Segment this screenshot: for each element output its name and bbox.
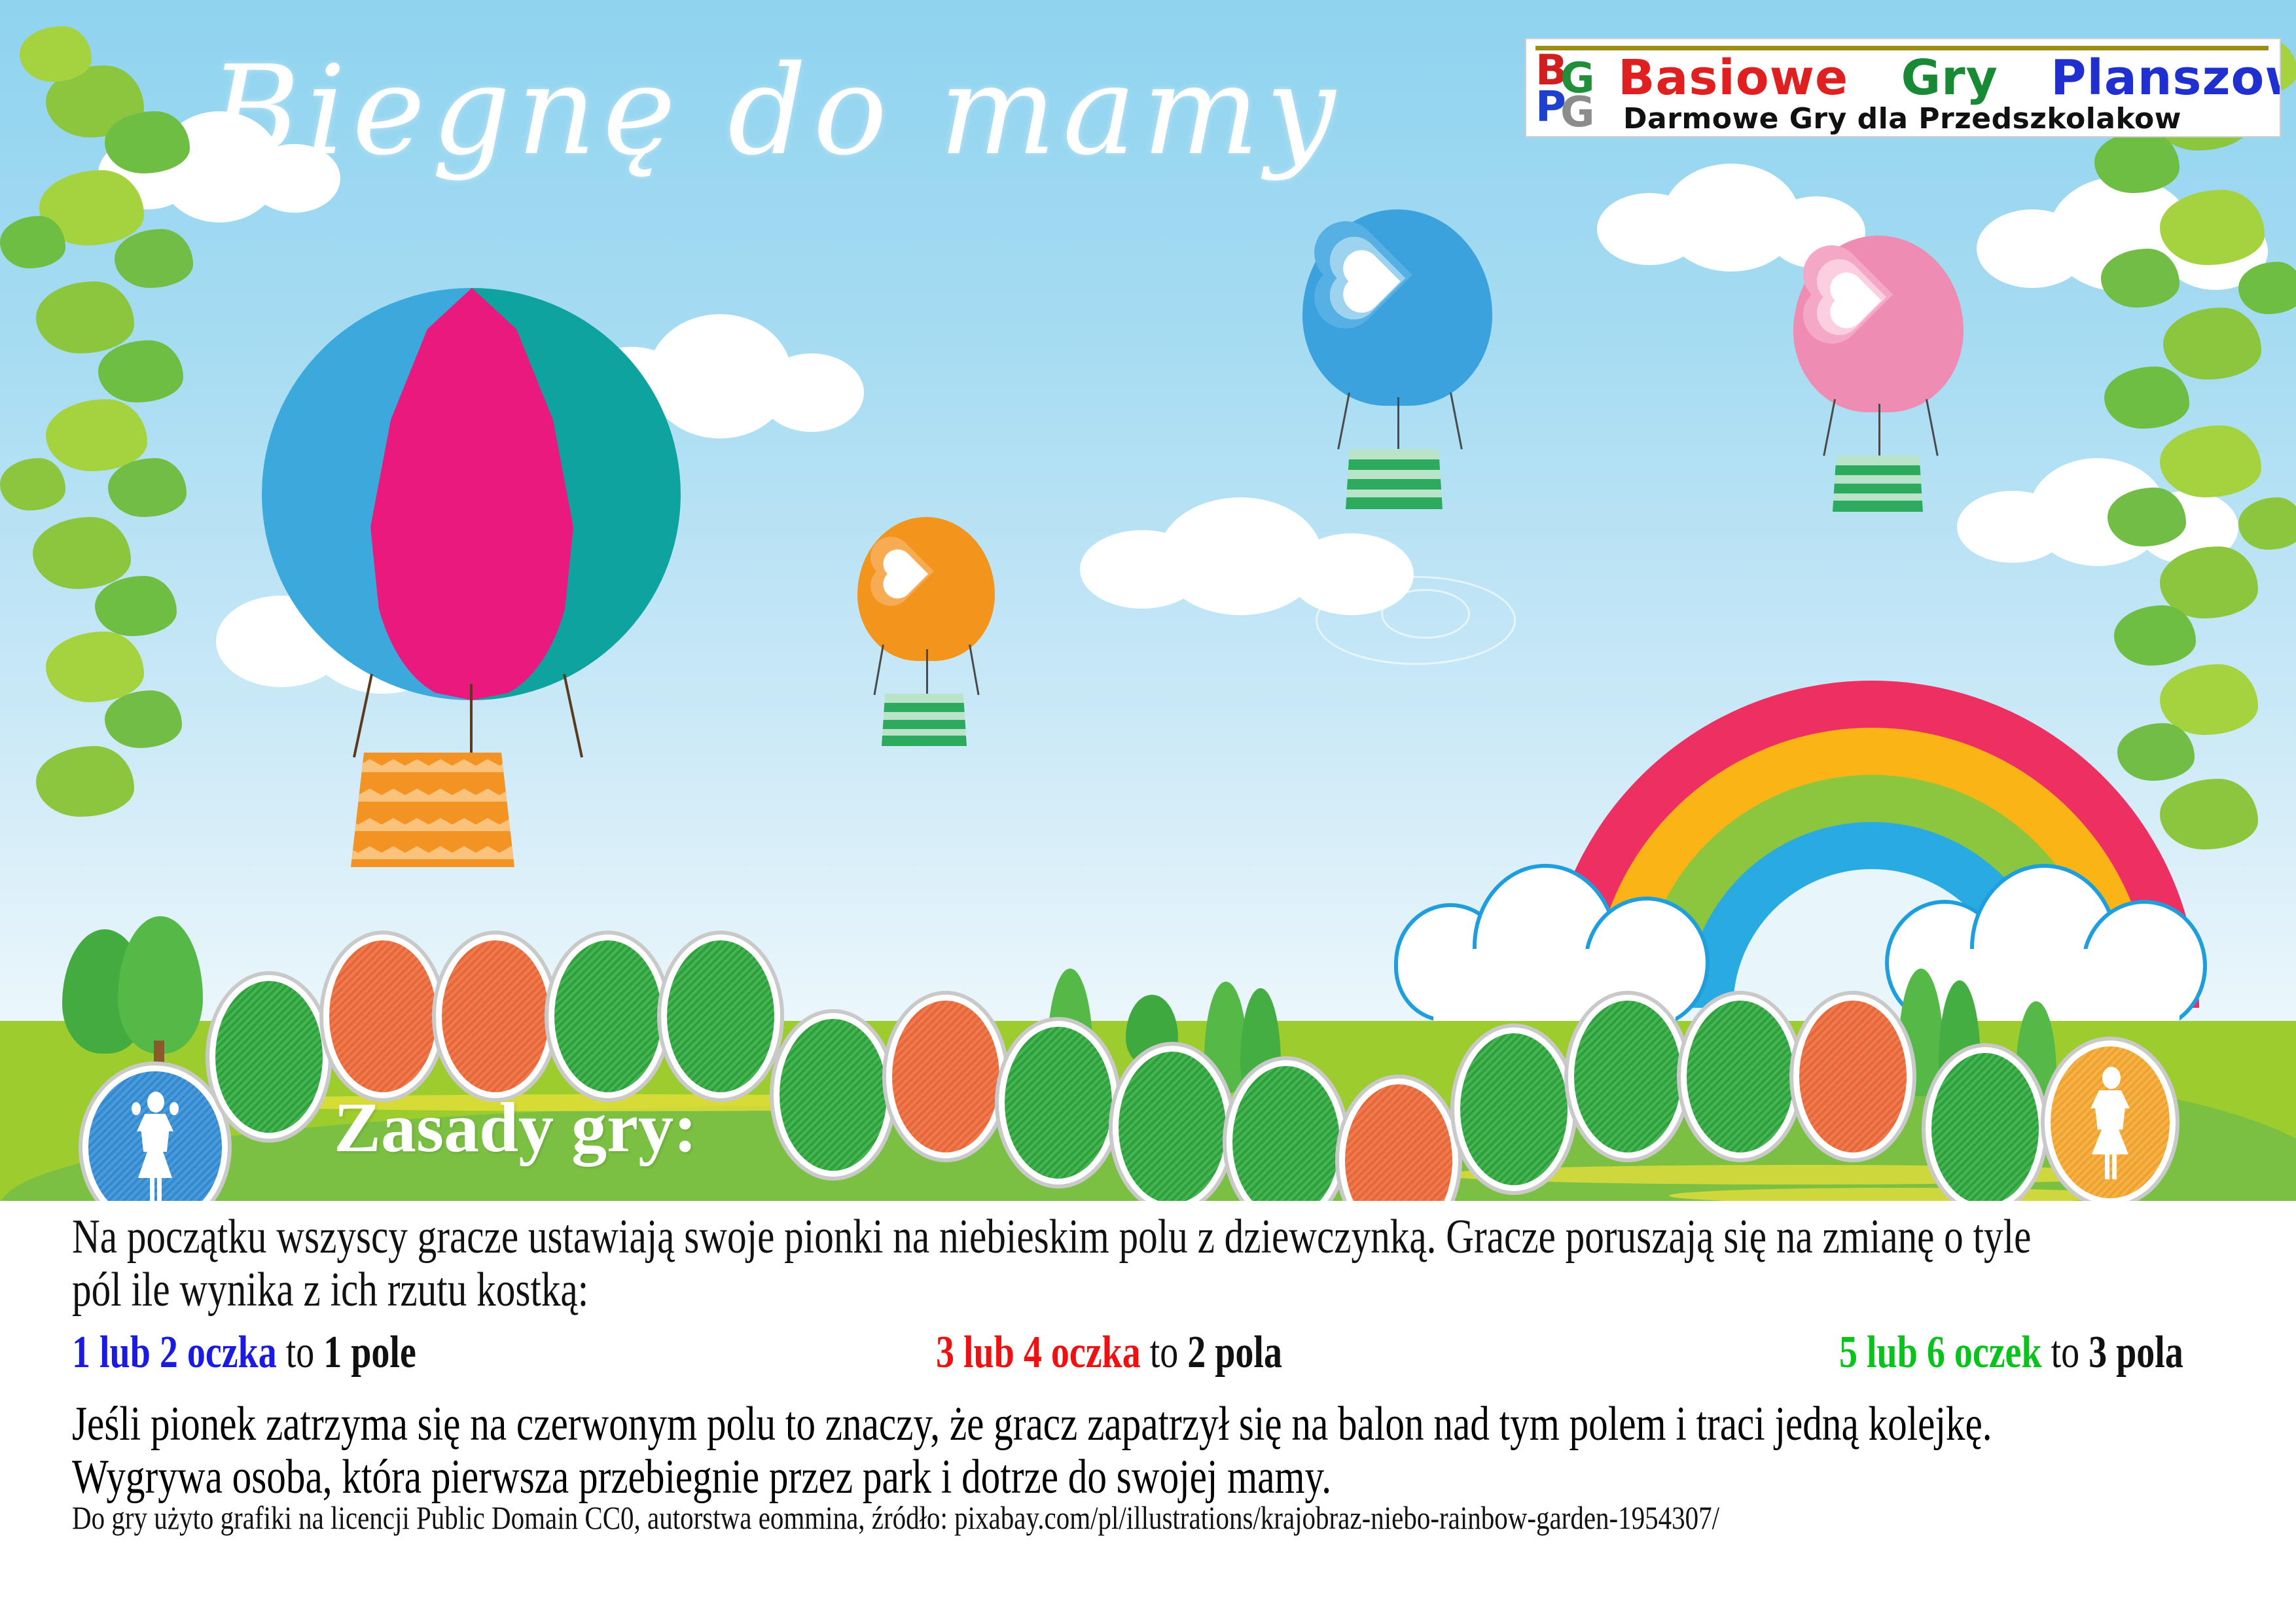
sky-swirl [1381,589,1470,639]
path-field-green[interactable] [1568,995,1687,1158]
balloon-line [1878,404,1880,457]
brand-logo[interactable]: B G P G Basiowe Gry Planszowe Darmowe Gr… [1525,38,2281,137]
path-field-green[interactable] [1681,995,1800,1158]
dice-rule-1-move: 1 pole [323,1327,416,1378]
rules-outro-line-2: Wygrywa osoba, która pierwsza przebiegni… [72,1451,1800,1504]
blue-heart-balloon [1302,209,1492,406]
balloon-line [926,649,928,696]
girl-pictogram [129,1092,181,1203]
dice-rule-2-roll: 3 lub 4 oczka [936,1327,1141,1378]
path-field-green[interactable] [661,935,780,1098]
logo-word-basiowe: Basiowe [1618,50,1848,106]
path-field-green[interactable] [209,975,329,1139]
path-field-green[interactable] [1454,1027,1573,1191]
page-title: Biegnę do mamy [209,39,1518,183]
path-field-red[interactable] [886,995,1005,1158]
balloon-line [1397,397,1399,451]
dice-rule-2-connector: to [1150,1327,1179,1378]
path-field-red[interactable] [1793,995,1912,1158]
logo-subtitle: Darmowe Gry dla Przedszkolakow [1623,102,2181,135]
credit-line: Do gry użyto grafiki na licencji Public … [72,1499,1719,1537]
green-striped-basket [1346,449,1443,509]
rules-intro-line-2: pól ile wynika z ich rzutu kostką: [72,1264,1800,1317]
logo-wordmark: Basiowe Gry Planszowe [1618,50,2281,106]
orange-heart-balloon [857,517,995,661]
pink-heart-balloon [1793,236,1964,412]
dice-rule-1-roll: 1 lub 2 oczka [72,1327,277,1378]
rules-heading: Zasady gry: [334,1088,697,1169]
rules-outro-line-1: Jeśli pionek zatrzyma się na czerwonym p… [72,1398,1800,1451]
dice-rule-3: 5 lub 6 oczek to 3 pola [1839,1327,2183,1379]
path-field-green[interactable] [999,1021,1118,1185]
end-field-mother[interactable] [2045,1041,2176,1204]
green-striped-basket [1833,455,1923,512]
mother-pictogram [2084,1067,2136,1178]
monogram-letter-g2: G [1560,94,1595,131]
rules-intro-line-1: Na początku wszyscy gracze ustawiają swo… [72,1211,1800,1264]
path-field-green[interactable] [1926,1047,2045,1211]
path-field-red[interactable] [436,935,555,1098]
rules-intro: Na początku wszyscy gracze ustawiają swo… [72,1211,2232,1316]
logo-word-gry: Gry [1901,50,1998,106]
dice-rule-1: 1 lub 2 oczka to 1 pole [72,1327,416,1379]
logo-word-planszowe: Planszowe [2051,50,2281,106]
dice-rule-2: 3 lub 4 oczka to 2 pola [936,1327,1282,1379]
path-field-green[interactable] [548,935,668,1098]
path-field-green[interactable] [1227,1060,1346,1224]
green-striped-basket [882,694,967,746]
dice-rule-3-move: 3 pola [2089,1327,2183,1378]
wicker-basket [351,753,514,867]
path-field-green[interactable] [774,1013,893,1177]
logo-monogram: B G P G [1535,52,1614,135]
game-board-poster: Biegnę do mamy B G P G Basiowe Gry Plans… [0,0,2296,1623]
dice-rules-row: 1 lub 2 oczka to 1 pole 3 lub 4 oczka to… [72,1327,2232,1379]
dice-rule-3-roll: 5 lub 6 oczek [1839,1327,2042,1378]
dice-rule-1-connector: to [286,1327,315,1378]
dice-rule-2-move: 2 pola [1187,1327,1282,1378]
rules-outro: Jeśli pionek zatrzyma się na czerwonym p… [72,1398,2232,1503]
dice-rule-3-connector: to [2051,1327,2080,1378]
path-field-red[interactable] [323,935,442,1098]
path-field-green[interactable] [1113,1046,1232,1209]
